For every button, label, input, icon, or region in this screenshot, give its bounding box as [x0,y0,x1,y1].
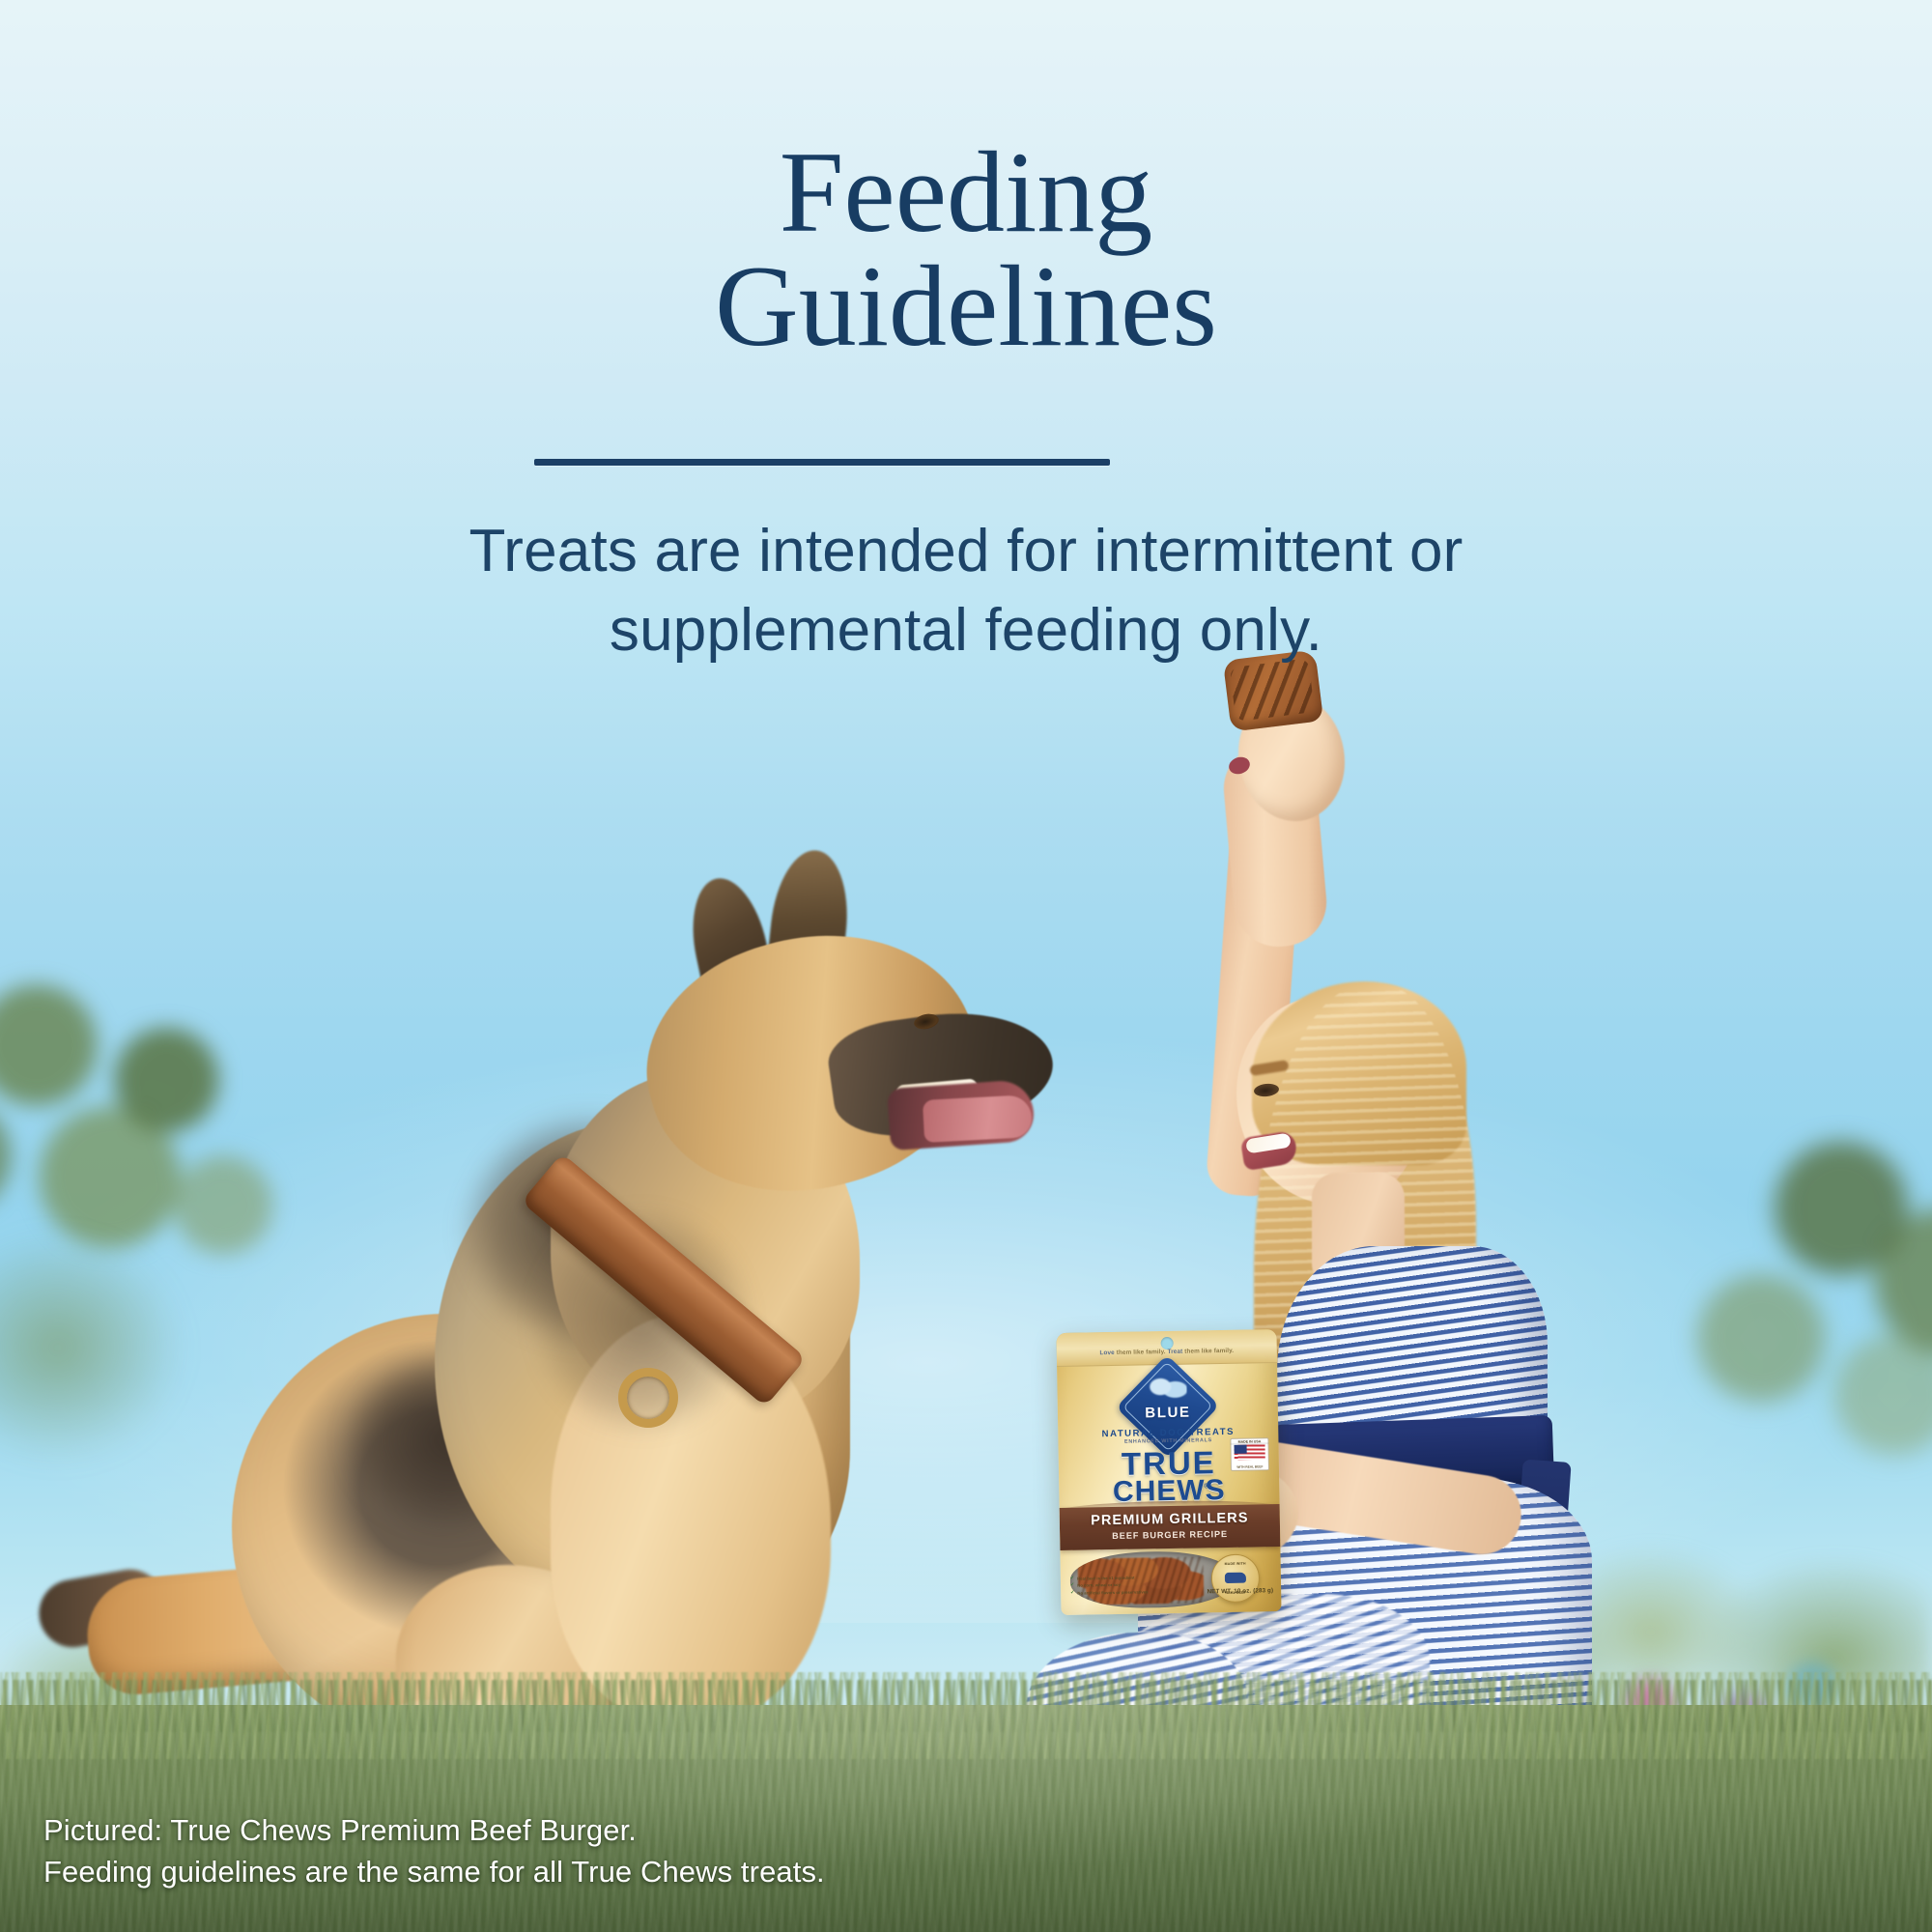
real-beef-seal-icon: MADE WITH REAL BEEF [1210,1553,1260,1603]
package-variety-name: PREMIUM GRILLERS [1060,1510,1280,1529]
claim-row: ✓ Real beef is the #1 ingredient [1070,1574,1177,1580]
package-net-weight: NET WT. 10 oz. (283 g) [1207,1587,1273,1595]
blue-dog-silhouette-icon [1148,1376,1186,1402]
claim-row: ✓ No corn, wheat or soy [1070,1581,1177,1588]
page-subtitle: Treats are intended for intermittent or … [174,512,1758,670]
title-divider [534,459,1110,466]
feeding-guidelines-banner: Love them like family. Treat them like f… [0,0,1932,1932]
page-subtitle-line-1: Treats are intended for intermittent or [469,518,1463,584]
tagline-treat-rest: them like family. [1184,1348,1234,1355]
checkmark-icon: ✓ [1070,1590,1074,1595]
checkmark-icon: ✓ [1070,1576,1074,1580]
page-subtitle-line-2: supplemental feeding only. [610,597,1322,664]
usa-flag-graphic-icon [1235,1444,1265,1461]
package-body: Love them like family. Treat them like f… [1056,1329,1281,1615]
claim-row: ✓ No artificial flavors or preservatives [1070,1588,1177,1595]
checkmark-icon: ✓ [1070,1583,1074,1588]
tagline-love: Love [1099,1350,1114,1356]
footnote-caption: Pictured: True Chews Premium Beef Burger… [43,1810,1492,1893]
claim-text: No artificial flavors or preservatives [1077,1589,1148,1595]
usa-flag-sub-label: WITH REAL BEEF [1232,1464,1268,1469]
german-shepherd-dog [232,898,1024,1797]
package-claims-list: ✓ Real beef is the #1 ingredient ✓ No co… [1070,1574,1177,1597]
package-variety-band: PREMIUM GRILLERS BEEF BURGER RECIPE [1060,1504,1281,1550]
page-title: Feeding Guidelines [0,135,1932,362]
tree-foliage-left-lower-icon [0,1217,232,1507]
woman-with-treat [1053,744,1787,1797]
claim-text: Real beef is the #1 ingredient [1077,1575,1135,1580]
tagline-treat: Treat [1167,1349,1182,1355]
page-title-line-1: Feeding [780,128,1153,256]
page-title-line-2: Guidelines [0,249,1932,363]
cow-silhouette-icon [1225,1573,1246,1583]
claim-text: No corn, wheat or soy [1077,1582,1121,1588]
usa-flag-top-label: MADE IN USA [1231,1439,1267,1444]
tagline-love-rest: them like family. [1117,1349,1166,1356]
blue-brand-word: BLUE [1058,1403,1278,1423]
footnote-line-1: Pictured: True Chews Premium Beef Burger… [43,1810,1492,1852]
dog-collar-ring-icon [618,1368,678,1428]
footnote-line-2: Feeding guidelines are the same for all … [43,1852,1492,1893]
seal-top-text: MADE WITH [1212,1561,1259,1566]
registered-mark: ® [1204,1483,1208,1490]
package-recipe-name: BEEF BURGER RECIPE [1060,1528,1280,1542]
true-chews-package: Love them like family. Treat them like f… [1056,1329,1281,1615]
dog-tongue [923,1094,1033,1143]
usa-flag-badge-icon: MADE IN USA WITH REAL BEEF [1230,1437,1269,1471]
